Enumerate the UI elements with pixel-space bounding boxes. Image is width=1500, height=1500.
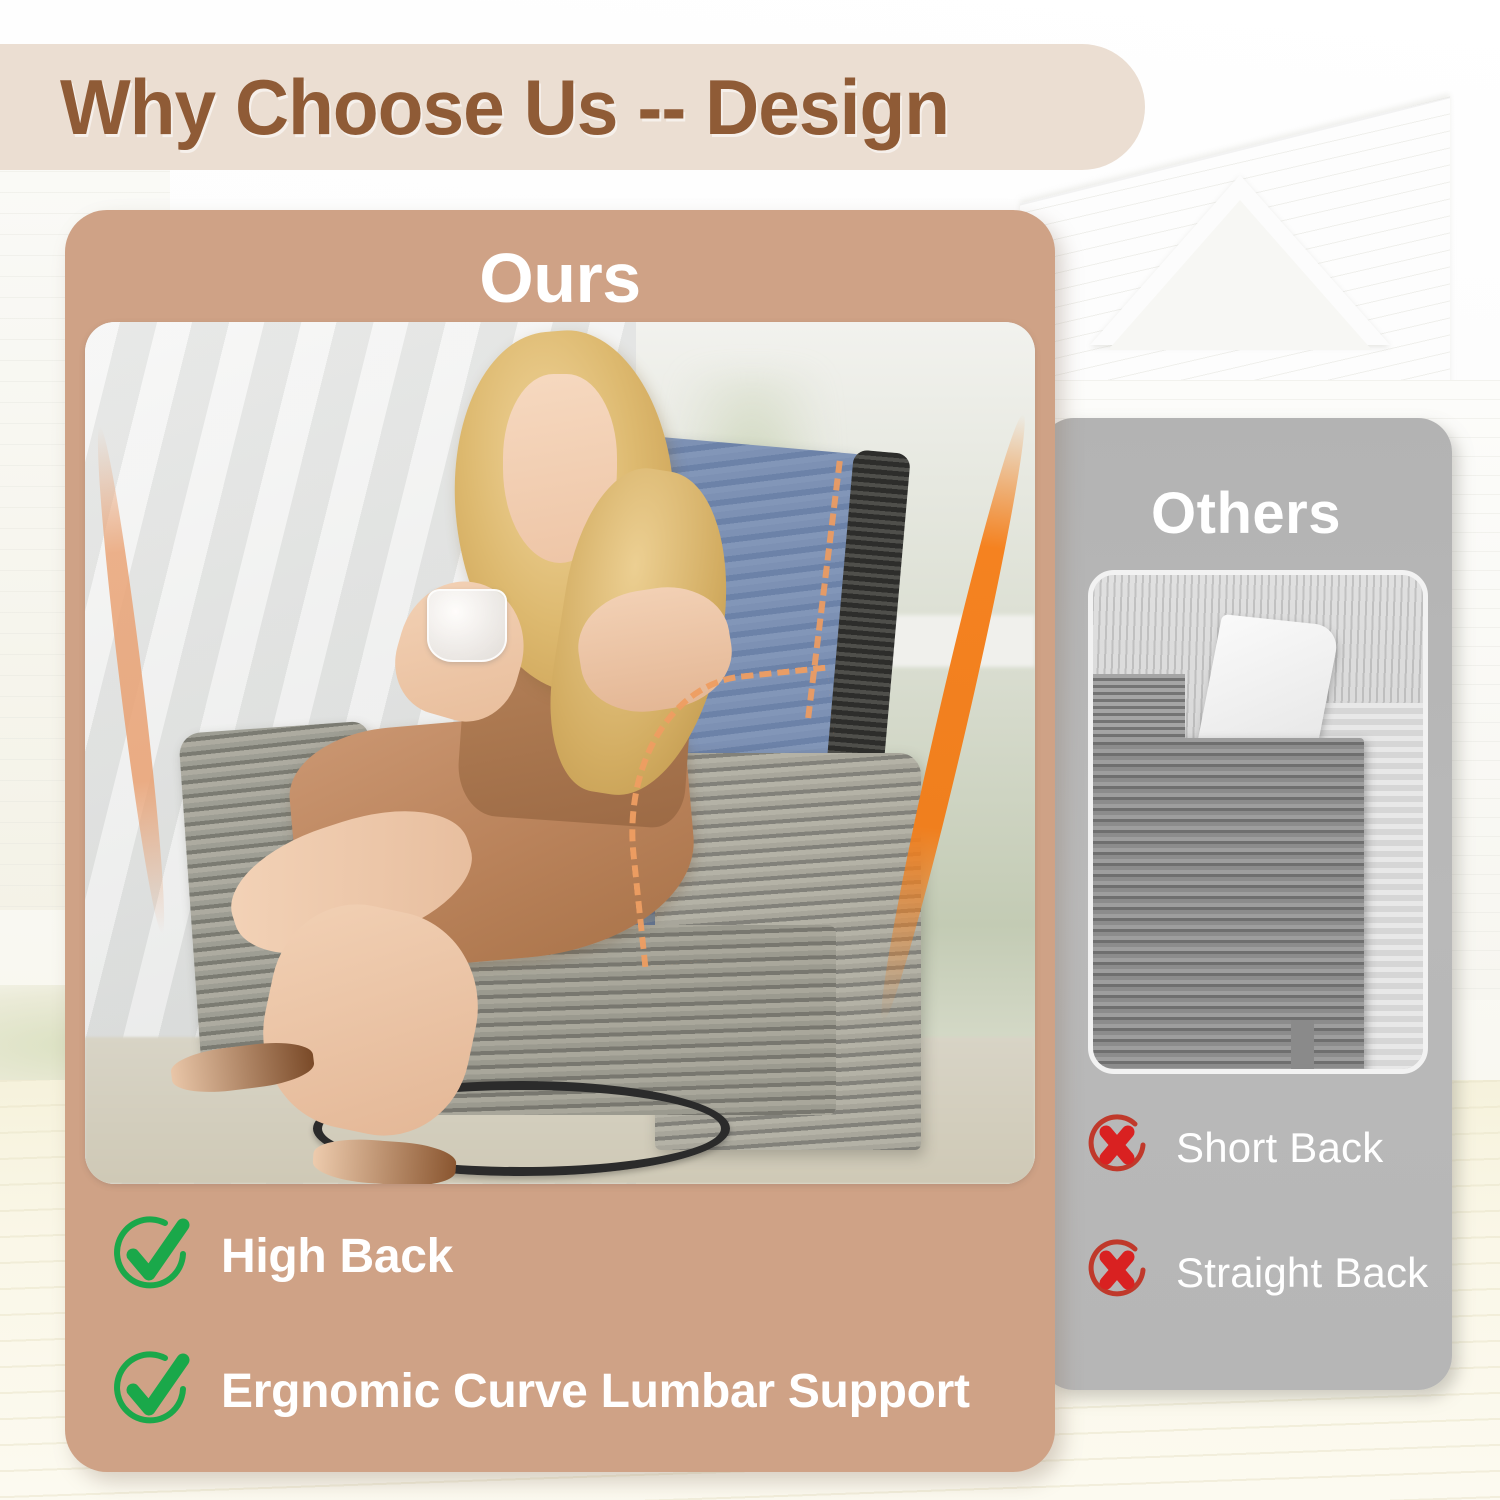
- x-circle-icon: [1080, 1108, 1154, 1187]
- list-item: Short Back: [1080, 1108, 1492, 1187]
- list-item-label: High Back: [221, 1229, 453, 1284]
- ours-feature-list: High Back Ergnomic Curve Lumbar Support: [107, 1210, 1097, 1480]
- check-circle-icon: [107, 1345, 195, 1438]
- title-banner: Why Choose Us -- Design: [0, 44, 1145, 170]
- list-item-label: Straight Back: [1176, 1249, 1428, 1297]
- infographic-canvas: Others Short Back: [0, 0, 1500, 1500]
- list-item: High Back: [107, 1210, 1097, 1303]
- ours-title: Ours: [65, 238, 1055, 318]
- page-title: Why Choose Us -- Design: [60, 62, 949, 153]
- house-gable-inner: [1108, 200, 1372, 350]
- ours-product-photo: [85, 322, 1035, 1184]
- others-title: Others: [1040, 480, 1452, 547]
- list-item-label: Short Back: [1176, 1124, 1383, 1172]
- list-item: Straight Back: [1080, 1233, 1492, 1312]
- list-item-label: Ergnomic Curve Lumbar Support: [221, 1364, 970, 1419]
- model-glass-cup: [427, 589, 507, 662]
- others-wicker-sofa: [1088, 738, 1364, 1074]
- others-sofa-leg: [1291, 1020, 1314, 1074]
- check-circle-icon: [107, 1210, 195, 1303]
- others-product-photo: [1088, 570, 1428, 1074]
- list-item: Ergnomic Curve Lumbar Support: [107, 1345, 1097, 1438]
- others-drawback-list: Short Back Straight Back: [1080, 1108, 1492, 1358]
- ours-panel: Ours: [65, 210, 1055, 1472]
- others-panel: Others Short Back: [1040, 418, 1452, 1390]
